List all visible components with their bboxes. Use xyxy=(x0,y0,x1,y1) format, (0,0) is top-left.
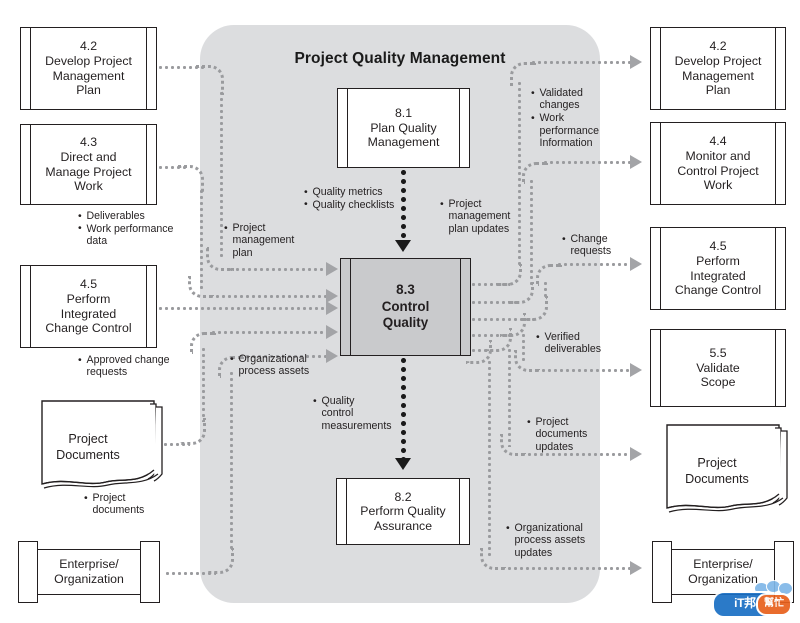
arrowhead-out-4-5 xyxy=(630,257,642,271)
box-bar-left xyxy=(350,259,351,355)
label-project-management-plan-updates: Project management plan updates xyxy=(440,198,528,235)
arrowhead-input-1 xyxy=(326,262,338,276)
label-quality-control-measurements: Quality control measurements xyxy=(313,395,405,432)
label-organizational-process-assets: Organizational process assets xyxy=(230,353,330,378)
label-work-performance-data: Work performance data xyxy=(78,223,198,248)
connector-project-documents-up xyxy=(202,348,205,422)
connector-4-2-down xyxy=(220,92,223,260)
connector-elbow xyxy=(190,332,216,354)
arrowhead-input-3 xyxy=(326,301,338,315)
right-box-label: 4.2Develop ProjectManagementPlan xyxy=(661,39,776,97)
connector-elbow xyxy=(536,264,562,286)
right-project-documents-label: ProjectDocuments xyxy=(655,456,779,487)
label-organizational-process-assets-group: Organizational process assets xyxy=(230,353,330,378)
label-validated-changes: Validated changes xyxy=(531,87,609,112)
label-quality-control-measurements-group: Quality control measurements xyxy=(313,395,405,432)
process-perform-quality-assurance[interactable]: 8.2Perform QualityAssurance xyxy=(336,478,470,545)
box-bar-right xyxy=(775,123,776,204)
connector-input-row-1 xyxy=(230,268,330,271)
connector-out-to-5-5 xyxy=(536,369,630,372)
box-bar-right xyxy=(460,259,461,355)
arrowhead-out-5-5 xyxy=(630,363,642,377)
process-label: 8.3ControlQuality xyxy=(368,282,444,332)
label-organizational-process-assets-updates: Organizational process assets updates xyxy=(506,522,606,559)
page-title: Project Quality Management xyxy=(200,50,600,68)
diagram-canvas: Project Quality Management 4.2Develop Pr… xyxy=(0,0,800,623)
connector-elbow xyxy=(196,65,224,95)
label-verified-deliverables-group: Verified deliverables xyxy=(536,331,616,356)
left-box-label: 4.5PerformIntegratedChange Control xyxy=(31,277,145,335)
connector-out-to-4-4 xyxy=(544,161,630,164)
process-label: 8.1Plan QualityManagement xyxy=(354,106,454,150)
label-change-requests-group: Change requests xyxy=(562,233,634,258)
label-verified-deliverables: Verified deliverables xyxy=(536,331,616,356)
arrowhead-out-4-2 xyxy=(630,55,642,69)
connector-out-docs-updates-down xyxy=(508,349,511,447)
arrowhead-input-4 xyxy=(326,325,338,339)
watermark-logo: iT邦 幫忙 xyxy=(708,582,794,618)
connector-out-to-4-2 xyxy=(532,61,630,64)
arrowhead-out-project-documents xyxy=(630,447,642,461)
label-approved-change-requests-group: Approved change requests xyxy=(78,354,193,379)
label-opa-updates-group: Organizational process assets updates xyxy=(506,522,606,559)
label-project-management-plan-group: Project management plan xyxy=(224,222,304,259)
connector-input-row-2 xyxy=(210,295,330,298)
left-box-direct-and-manage-project-work[interactable]: 4.3Direct andManage ProjectWork xyxy=(20,124,157,205)
process-control-quality[interactable]: 8.3ControlQuality xyxy=(340,258,471,356)
label-change-requests: Change requests xyxy=(562,233,634,258)
left-box-label: 4.3Direct andManage ProjectWork xyxy=(31,135,145,193)
connector-out-opa-updates-down xyxy=(488,361,491,559)
label-project-documents-in: Project documents xyxy=(84,492,194,517)
connector-input-row-4 xyxy=(212,331,330,334)
connector-out-to-enterprise xyxy=(502,567,630,570)
label-validated-changes-group: Validated changes Work performance Infor… xyxy=(531,87,609,150)
right-project-documents[interactable]: ProjectDocuments xyxy=(655,422,795,514)
connector-enterprise-up xyxy=(230,372,233,552)
right-box-validate-scope[interactable]: 5.5ValidateScope xyxy=(650,329,786,407)
box-bar-right xyxy=(146,266,147,347)
right-box-monitor-and-control-project-work[interactable]: 4.4Monitor andControl ProjectWork xyxy=(650,122,786,205)
label-project-documents-in-group: Project documents xyxy=(84,492,194,517)
label-deliverables: Deliverables xyxy=(78,210,198,222)
left-project-documents[interactable]: ProjectDocuments xyxy=(26,398,166,490)
left-box-perform-integrated-change-control[interactable]: 4.5PerformIntegratedChange Control xyxy=(20,265,157,348)
label-project-management-plan: Project management plan xyxy=(224,222,304,259)
box-bar-right xyxy=(146,125,147,204)
connector-out-to-4-5 xyxy=(558,263,630,266)
connector-elbow xyxy=(178,165,204,193)
right-box-perform-integrated-change-control[interactable]: 4.5PerformIntegratedChange Control xyxy=(650,227,786,310)
box-bar-right xyxy=(459,89,460,167)
process-label: 8.2Perform QualityAssurance xyxy=(346,490,459,534)
process-plan-quality-management[interactable]: 8.1Plan QualityManagement xyxy=(337,88,470,168)
watermark-secondary: 幫忙 xyxy=(756,593,792,616)
right-enterprise-organization-label: Enterprise/Organization xyxy=(648,557,798,587)
left-box-label: 4.2Develop ProjectManagementPlan xyxy=(31,39,146,97)
label-quality-checklists: Quality checklists xyxy=(304,199,414,211)
label-deliverables-group: Deliverables Work performance data xyxy=(78,210,198,248)
label-project-documents-updates-group: Project documents updates xyxy=(527,416,607,453)
box-bar-right xyxy=(775,330,776,406)
label-approved-change-requests: Approved change requests xyxy=(78,354,193,379)
label-work-performance-information: Work performance Information xyxy=(531,112,609,149)
connector-input-row-3 xyxy=(159,307,330,310)
left-enterprise-organization[interactable]: Enterprise/Organization xyxy=(14,541,164,603)
arrowhead-8-2-in xyxy=(395,458,411,470)
connector-elbow xyxy=(510,62,536,86)
connector-out-pmp-updates-up xyxy=(518,82,521,268)
box-bar-left xyxy=(347,89,348,167)
arrowhead-out-enterprise xyxy=(630,561,642,575)
box-bar-left xyxy=(660,123,661,204)
connector-4-3-down xyxy=(200,190,203,290)
left-project-documents-label: ProjectDocuments xyxy=(26,432,150,463)
label-pmp-updates-group: Project management plan updates xyxy=(440,198,528,235)
right-box-label: 4.5PerformIntegratedChange Control xyxy=(661,239,775,297)
box-bar-left xyxy=(660,330,661,406)
left-box-develop-project-management-plan[interactable]: 4.2Develop ProjectManagementPlan xyxy=(20,27,157,110)
right-box-label: 4.4Monitor andControl ProjectWork xyxy=(663,134,772,192)
arrowhead-out-4-4 xyxy=(630,155,642,169)
connector-out-to-project-documents xyxy=(522,453,630,456)
arrowhead-8-3-in xyxy=(395,240,411,252)
label-quality-metrics-group: Quality metrics Quality checklists xyxy=(304,186,414,211)
connector-out-wpi-up xyxy=(530,180,533,286)
label-project-documents-updates: Project documents updates xyxy=(527,416,607,453)
right-box-develop-project-management-plan[interactable]: 4.2Develop ProjectManagementPlan xyxy=(650,27,786,110)
left-enterprise-organization-label: Enterprise/Organization xyxy=(14,557,164,587)
right-box-label: 5.5ValidateScope xyxy=(682,346,754,390)
connector-elbow xyxy=(522,162,548,184)
label-quality-metrics: Quality metrics xyxy=(304,186,414,198)
